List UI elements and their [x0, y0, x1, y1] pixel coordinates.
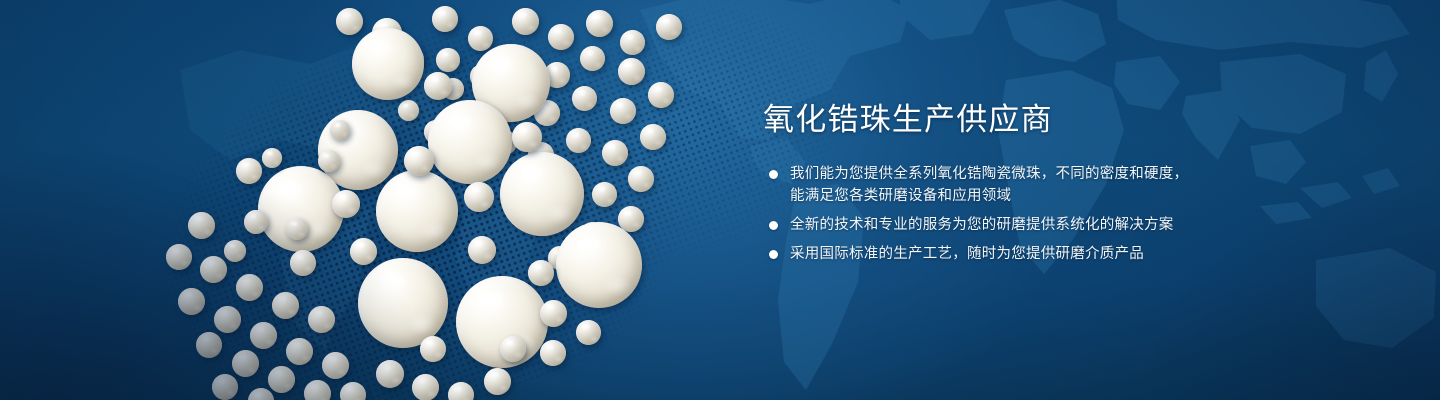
bullet-line: 全新的技术和专业的服务为您的研磨提供系统化的解决方案 [790, 214, 1283, 236]
list-item: 全新的技术和专业的服务为您的研磨提供系统化的解决方案 [763, 214, 1283, 236]
dot-bullet-icon [769, 250, 778, 259]
list-item: 我们能为您提供全系列氧化锆陶瓷微珠，不同的密度和硬度， 能满足您各类研磨设备和应… [763, 163, 1283, 207]
list-item: 采用国际标准的生产工艺，随时为您提供研磨介质产品 [763, 243, 1283, 265]
banner-copy: 氧化锆珠生产供应商 我们能为您提供全系列氧化锆陶瓷微珠，不同的密度和硬度， 能满… [763, 104, 1283, 265]
bullet-line: 采用国际标准的生产工艺，随时为您提供研磨介质产品 [790, 243, 1283, 265]
hero-banner: 氧化锆珠生产供应商 我们能为您提供全系列氧化锆陶瓷微珠，不同的密度和硬度， 能满… [0, 0, 1440, 400]
feature-bullet-list: 我们能为您提供全系列氧化锆陶瓷微珠，不同的密度和硬度， 能满足您各类研磨设备和应… [763, 163, 1283, 265]
page-title: 氧化锆珠生产供应商 [763, 104, 1283, 137]
dot-bullet-icon [769, 221, 778, 230]
dot-bullet-icon [769, 170, 778, 179]
bullet-line: 能满足您各类研磨设备和应用领域 [790, 185, 1283, 207]
bullet-line: 我们能为您提供全系列氧化锆陶瓷微珠，不同的密度和硬度， [790, 163, 1283, 185]
